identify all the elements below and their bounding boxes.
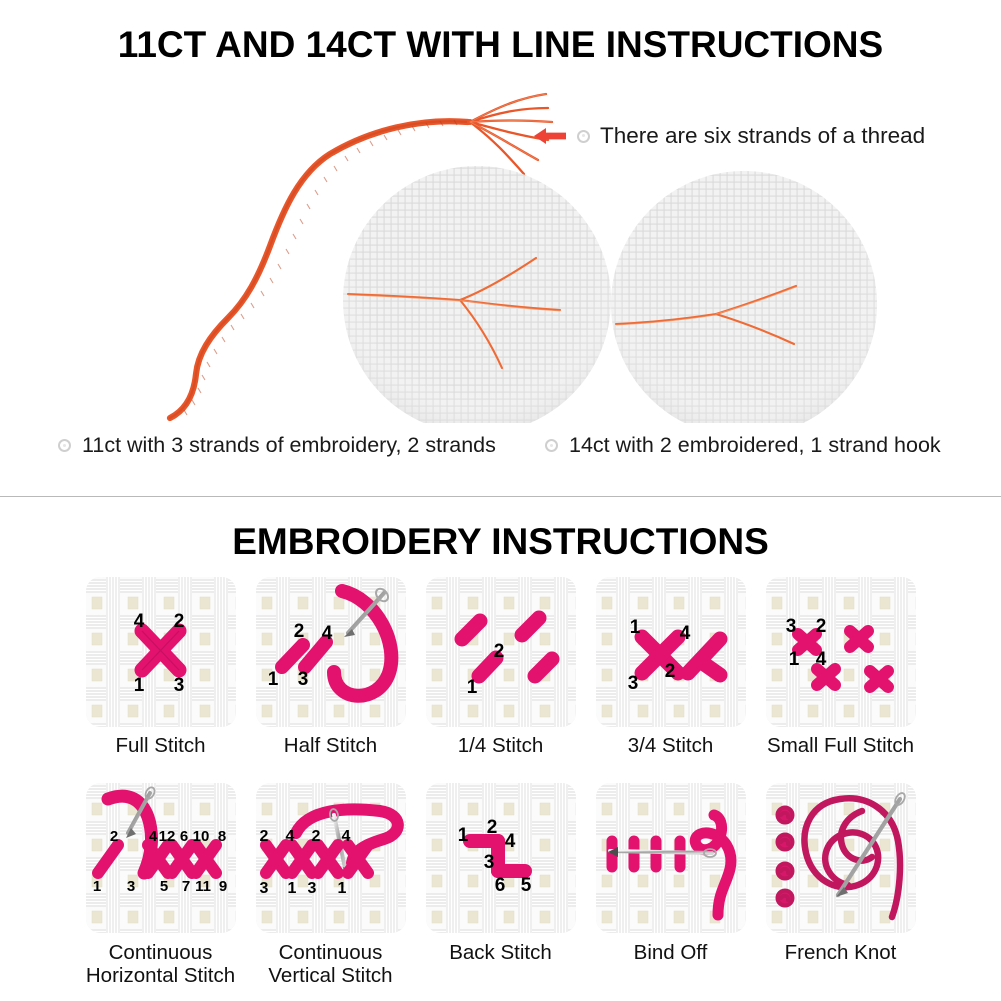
- stitch-number: 2: [109, 828, 117, 845]
- stitch-number: 9: [218, 878, 226, 895]
- stitch-label-back-stitch: Back Stitch: [449, 942, 552, 990]
- stitch-cell-quarter-stitch: 2 1 1/4 Stitch: [416, 577, 586, 783]
- stitch-number: 1: [267, 669, 278, 690]
- stitch-number: 2: [259, 828, 268, 845]
- stitch-cell-small-full-stitch: 3 2 1 4 Small Full Stitch: [756, 577, 926, 783]
- stitch-number: 3: [483, 852, 494, 873]
- caption-14ct-label: 14ct with 2 embroidered, 1 strand hook: [569, 433, 941, 458]
- stitch-number: 3: [297, 669, 308, 690]
- stitch-number: 1: [287, 880, 296, 897]
- stitch-number: 4: [321, 623, 332, 644]
- stitch-diagram-half-stitch: 2 4 1 3: [256, 577, 406, 727]
- stitch-diagram-small-full-stitch: 3 2 1 4: [766, 577, 916, 727]
- ring-bullet-icon: [577, 130, 590, 143]
- embroidery-instructions-section: EMBROIDERY INSTRUCTIONS: [0, 497, 1001, 1001]
- stitch-number: 3: [785, 616, 796, 637]
- stitch-number: 2: [493, 641, 504, 662]
- six-strands-note: There are six strands of a thread: [533, 123, 925, 149]
- stitch-diagram-continuous-vertical: 2 4 2 4 3 1 3 1: [256, 783, 406, 933]
- stitch-number: 2: [293, 621, 304, 642]
- stitch-number: 1: [92, 878, 100, 895]
- stitch-number: 6: [494, 875, 505, 896]
- section-title-embroidery: EMBROIDERY INSTRUCTIONS: [0, 521, 1001, 563]
- arrow-left-icon: [533, 126, 567, 146]
- stitch-cell-three-quarter-stitch: 1 4 2 3 3/4 Stitch: [586, 577, 756, 783]
- stitch-cell-french-knot: French Knot: [756, 783, 926, 990]
- stitch-number: 2: [311, 828, 320, 845]
- stitch-number: 6: [179, 828, 187, 845]
- thread-instructions-section: 11CT AND 14CT WITH LINE INSTRUCTIONS: [0, 0, 1001, 497]
- stitch-diagram-continuous-horizontal: 2 4 12 6 10 8 1 3 5 7 11 9: [86, 783, 236, 933]
- stitch-label-bind-off: Bind Off: [634, 942, 708, 990]
- page-title: 11CT AND 14CT WITH LINE INSTRUCTIONS: [0, 24, 1001, 66]
- stitch-number: 2: [486, 817, 497, 838]
- fabric-circle-14ct: [611, 171, 877, 423]
- stitch-number: 4: [148, 828, 157, 845]
- stitch-number: 11: [195, 878, 211, 895]
- stitch-label-three-quarter-stitch: 3/4 Stitch: [628, 735, 713, 783]
- stitch-diagram-back-stitch: 1 2 4 3 6 5: [426, 783, 576, 933]
- six-strands-note-label: There are six strands of a thread: [600, 123, 925, 149]
- stitch-label-continuous-vertical: Continuous Vertical Stitch: [268, 942, 392, 990]
- ring-bullet-icon: [58, 439, 71, 452]
- stitch-number: 1: [457, 825, 468, 846]
- stitch-label-quarter-stitch: 1/4 Stitch: [458, 735, 543, 783]
- stitch-number: 12: [158, 828, 175, 845]
- stitch-number: 1: [337, 880, 346, 897]
- stitch-cell-continuous-horizontal: 2 4 12 6 10 8 1 3 5 7 11 9 Continuo: [76, 783, 246, 990]
- stitch-number: 7: [181, 878, 189, 895]
- stitch-cell-back-stitch: 1 2 4 3 6 5 Back Stitch: [416, 783, 586, 990]
- stitch-diagram-bind-off: [596, 783, 746, 933]
- stitch-cell-continuous-vertical: 2 4 2 4 3 1 3 1 Continuous Vertical Stit…: [246, 783, 416, 990]
- stitch-label-french-knot: French Knot: [785, 942, 897, 990]
- stitch-label-continuous-horizontal: Continuous Horizontal Stitch: [86, 942, 235, 990]
- stitch-label-full-stitch: Full Stitch: [116, 735, 206, 783]
- stitch-number: 8: [217, 828, 225, 845]
- stitch-number: 4: [504, 831, 515, 852]
- stitch-number: 4: [815, 649, 826, 670]
- stitch-cell-half-stitch: 2 4 1 3 Half Stitch: [246, 577, 416, 783]
- stitch-number: 4: [285, 828, 294, 845]
- stitch-number: 3: [126, 878, 134, 895]
- stitch-number: 3: [627, 673, 638, 694]
- stitch-number: 5: [520, 875, 531, 896]
- stitch-diagram-french-knot: [766, 783, 916, 933]
- stitch-number: 4: [679, 623, 690, 644]
- stitch-number: 1: [466, 677, 477, 698]
- stitch-number: 10: [192, 828, 209, 845]
- caption-11ct: 11ct with 3 strands of embroidery, 2 str…: [58, 433, 496, 458]
- caption-11ct-label: 11ct with 3 strands of embroidery, 2 str…: [82, 433, 496, 458]
- stitch-cell-full-stitch: 4 2 1 3 Full Stitch: [76, 577, 246, 783]
- stitch-diagram-quarter-stitch: 2 1: [426, 577, 576, 727]
- stitch-label-half-stitch: Half Stitch: [284, 735, 377, 783]
- stitch-number: 3: [259, 880, 268, 897]
- fabric-circle-11ct: [343, 166, 611, 423]
- stitch-diagram-full-stitch: 4 2 1 3: [86, 577, 236, 727]
- stitch-number: 2: [664, 661, 675, 682]
- stitch-number: 4: [133, 611, 144, 632]
- stitch-number: 3: [307, 880, 316, 897]
- stitch-number: 1: [133, 675, 144, 696]
- stitch-number: 2: [173, 611, 184, 632]
- stitch-number: 4: [341, 828, 350, 845]
- caption-14ct: 14ct with 2 embroidered, 1 strand hook: [545, 433, 941, 458]
- stitch-number: 2: [815, 616, 826, 637]
- stitch-number: 3: [173, 675, 184, 696]
- stitch-label-small-full-stitch: Small Full Stitch: [767, 735, 914, 783]
- stitch-number: 5: [159, 878, 167, 895]
- stitch-number: 1: [788, 649, 799, 670]
- ring-bullet-icon: [545, 439, 558, 452]
- stitch-cell-bind-off: Bind Off: [586, 783, 756, 990]
- stitch-number: 1: [629, 617, 640, 638]
- stitch-diagram-three-quarter-stitch: 1 4 2 3: [596, 577, 746, 727]
- stitch-grid: 4 2 1 3 Full Stitch: [0, 577, 1001, 990]
